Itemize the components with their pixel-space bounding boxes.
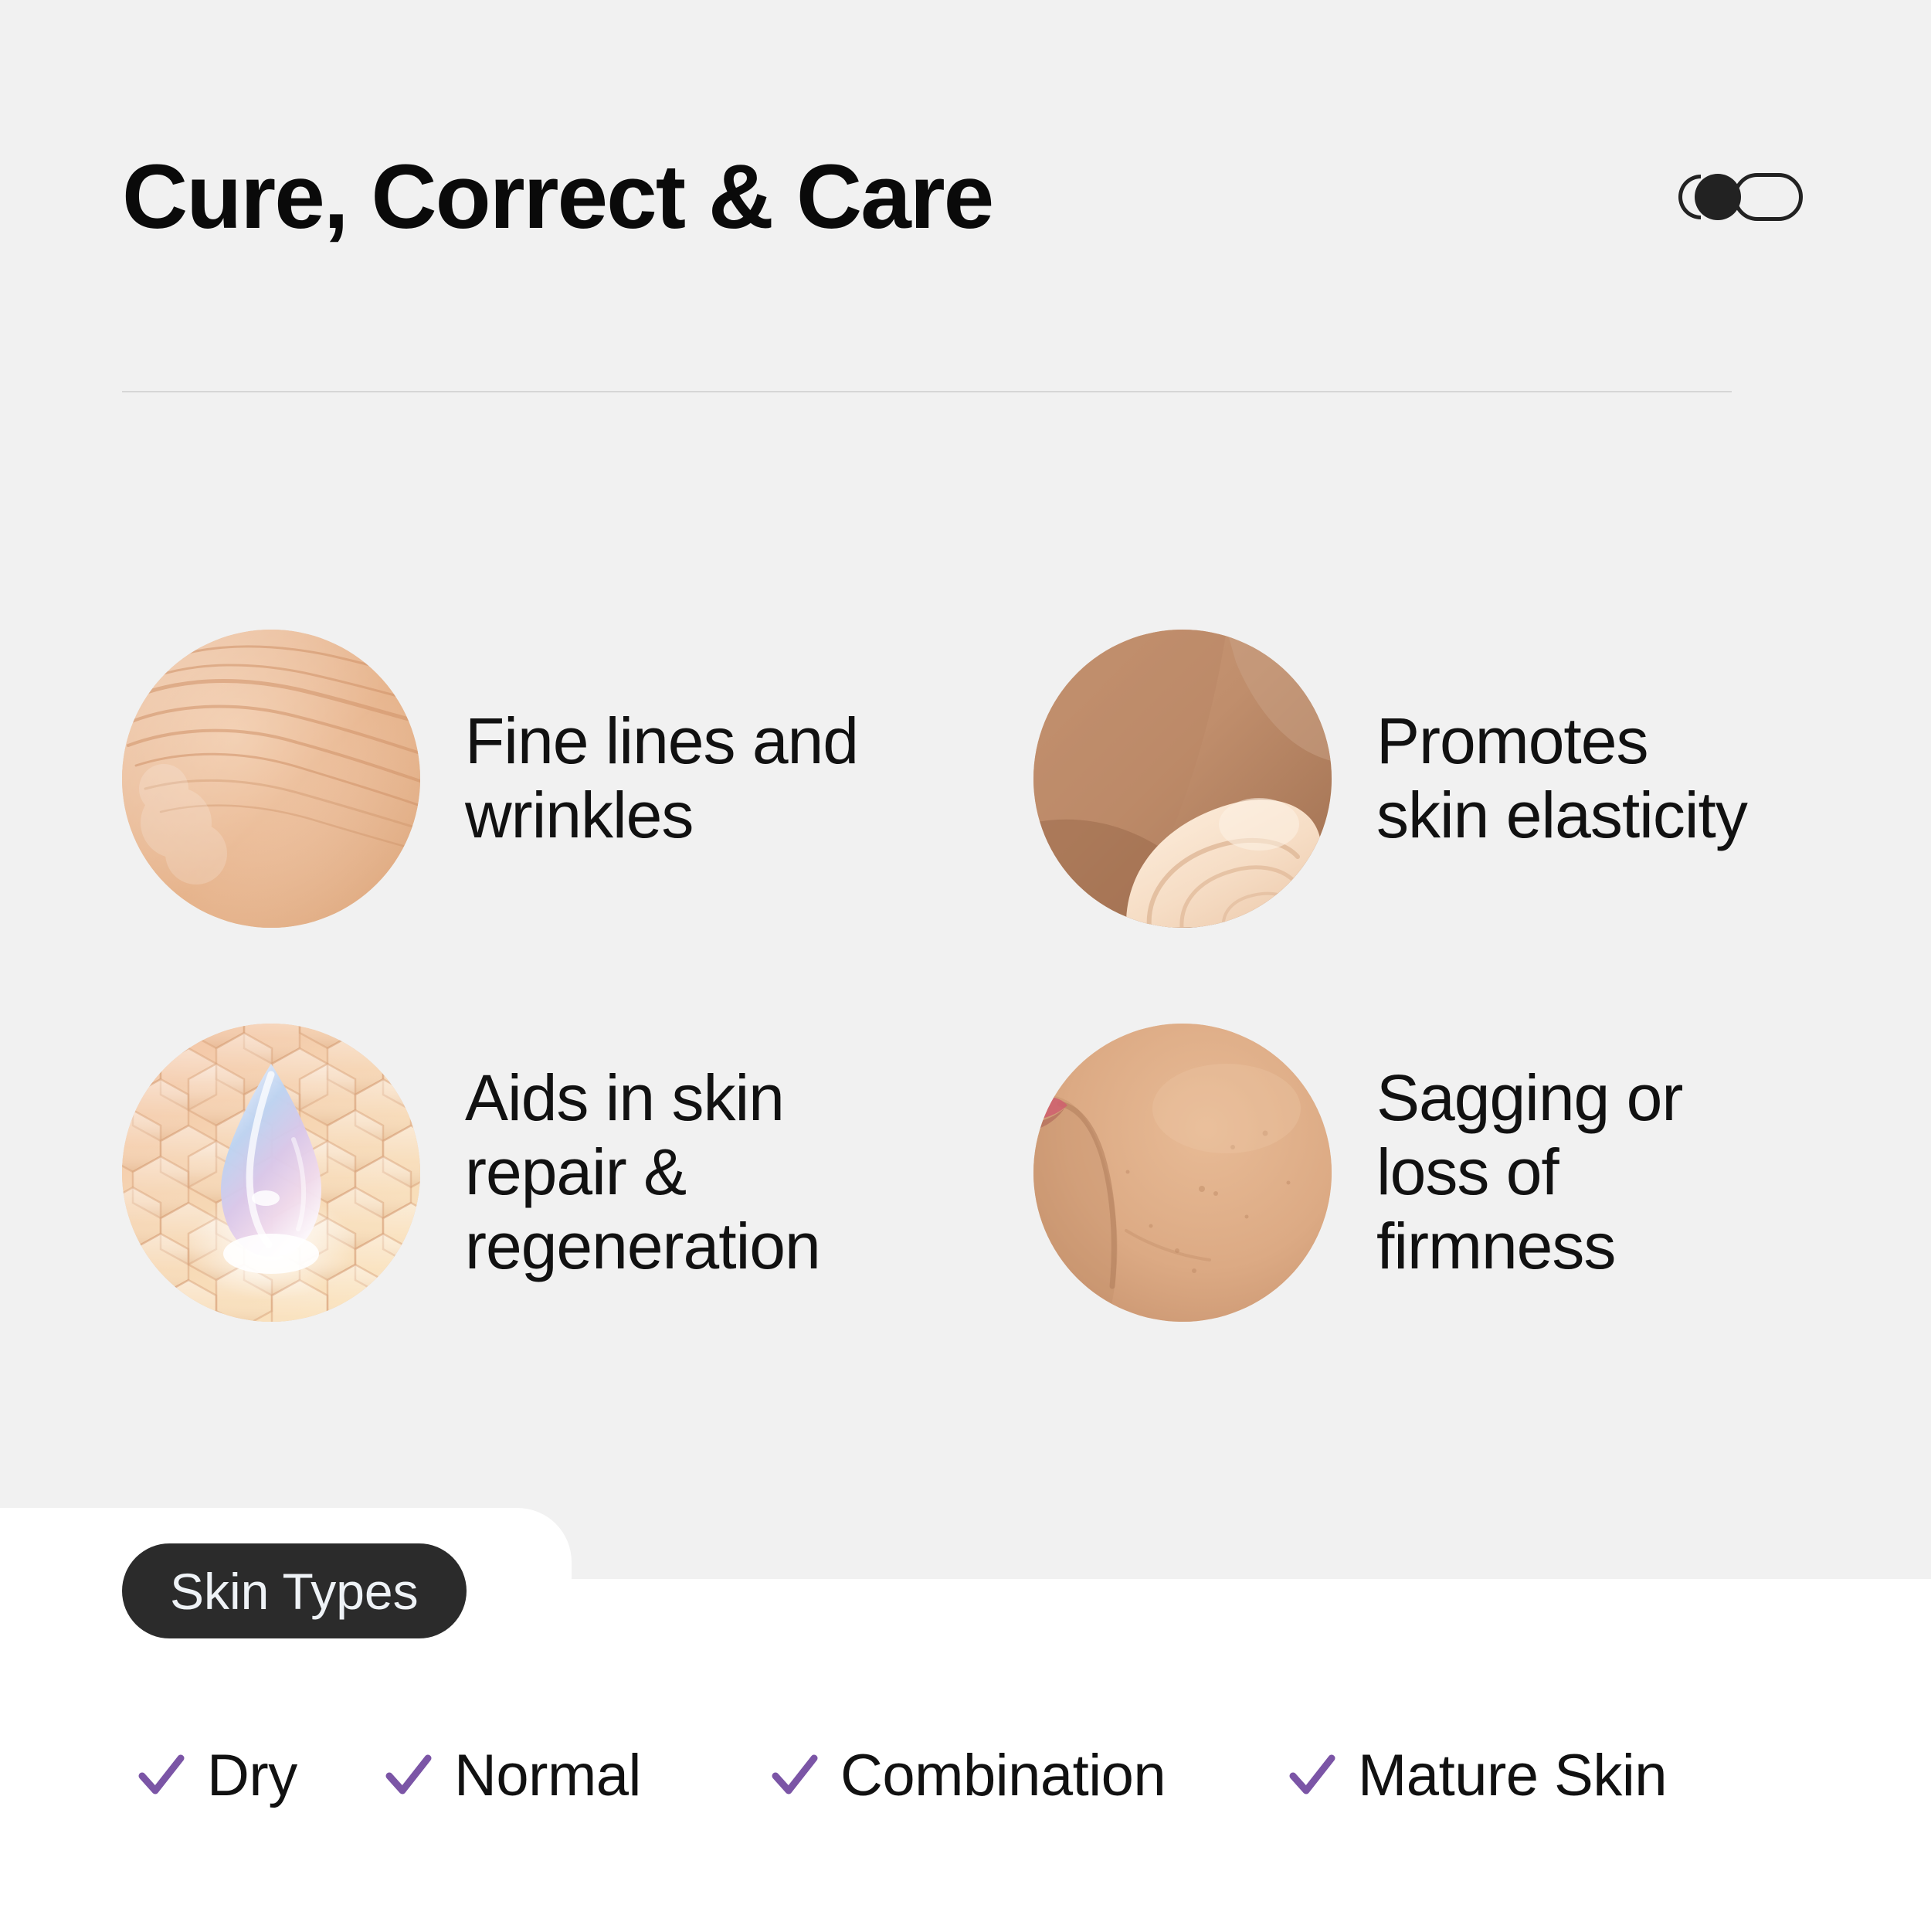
- benefit-label-line: wrinkles: [465, 779, 858, 853]
- benefit-label-line: Fine lines and: [465, 705, 858, 779]
- benefit-label: Sagging or loss of firmness: [1376, 1061, 1682, 1283]
- check-icon: [136, 1750, 187, 1801]
- filled-circle-icon: [1695, 174, 1741, 220]
- pinched-skin-elasticity-image: [1033, 630, 1332, 928]
- check-icon: [769, 1750, 820, 1801]
- benefit-item-promotes-skin-elasticity: Promotes skin elasticity: [1033, 533, 1821, 1024]
- check-icon: [383, 1750, 434, 1801]
- wrinkled-skin-closeup-image: [122, 630, 420, 928]
- benefit-label: Promotes skin elasticity: [1376, 705, 1747, 853]
- skin-type-label: Dry: [207, 1742, 297, 1809]
- skin-type-item-mature-skin: Mature Skin: [1287, 1742, 1719, 1809]
- benefit-item-fine-lines-and-wrinkles: Fine lines and wrinkles: [122, 533, 1033, 1024]
- benefit-item-aids-in-skin-repair-and-regeneration: Aids in skin repair & regeneration: [122, 1024, 1033, 1322]
- benefit-label-line: Aids in skin: [465, 1061, 820, 1136]
- skin-type-item-dry: Dry: [136, 1742, 383, 1809]
- header-divider: [122, 391, 1732, 392]
- brand-logo: [1678, 164, 1803, 230]
- sagging-cheek-skin-image: [1033, 1024, 1332, 1322]
- skin-types-list: Dry Normal Combination Mature Skin: [136, 1742, 1835, 1809]
- pill-outline-icon: [1733, 173, 1803, 221]
- serum-droplet-on-skin-cells-image: [122, 1024, 420, 1322]
- benefit-label-line: loss of: [1376, 1136, 1682, 1210]
- benefit-label-line: Sagging or: [1376, 1061, 1682, 1136]
- skin-type-label: Combination: [840, 1742, 1166, 1809]
- benefit-label-line: Promotes: [1376, 705, 1747, 779]
- skin-types-badge-label: Skin Types: [170, 1562, 419, 1621]
- benefit-item-sagging-or-loss-of-firmness: Sagging or loss of firmness: [1033, 1024, 1821, 1322]
- benefit-label-line: regeneration: [465, 1210, 820, 1284]
- benefit-label: Aids in skin repair & regeneration: [465, 1061, 820, 1283]
- page-title: Cure, Correct & Care: [122, 151, 993, 243]
- benefit-label-line: skin elasticity: [1376, 779, 1747, 853]
- benefit-label-line: repair &: [465, 1136, 820, 1210]
- skin-type-item-combination: Combination: [769, 1742, 1287, 1809]
- header: Cure, Correct & Care: [122, 147, 1809, 247]
- check-icon: [1287, 1750, 1338, 1801]
- benefit-label: Fine lines and wrinkles: [465, 705, 858, 853]
- skin-type-label: Normal: [454, 1742, 641, 1809]
- skin-type-item-normal: Normal: [383, 1742, 769, 1809]
- skin-types-badge: Skin Types: [122, 1543, 467, 1638]
- benefits-grid: Fine lines and wrinkles: [122, 533, 1821, 1322]
- skin-type-label: Mature Skin: [1358, 1742, 1667, 1809]
- benefit-label-line: firmness: [1376, 1210, 1682, 1284]
